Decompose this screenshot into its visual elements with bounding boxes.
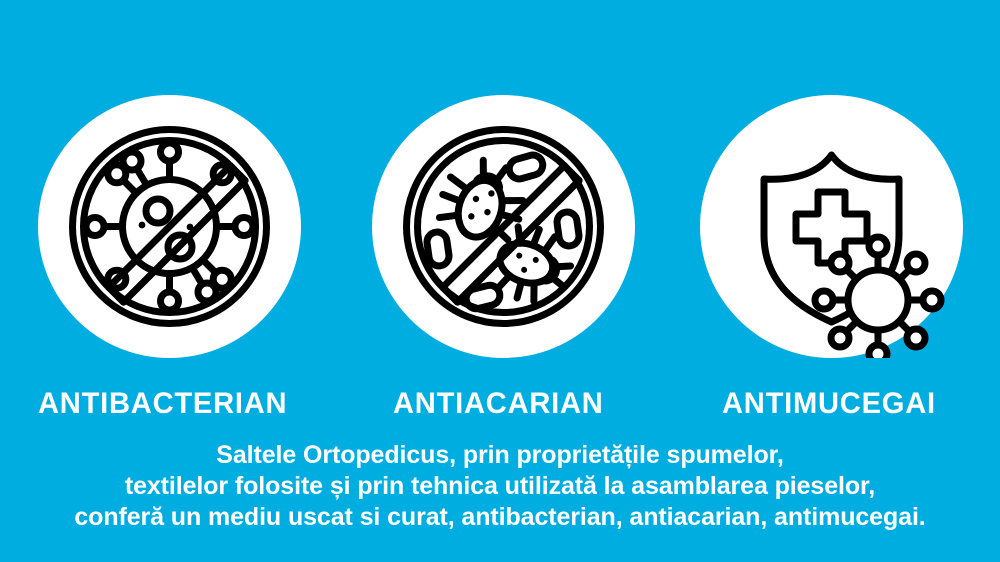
feature-label-antibacterian: ANTIBACTERIAN [38,385,287,423]
feature-badge-antibacterian [38,95,301,358]
feature-label-antiacarian: ANTIACARIAN [393,385,604,423]
blurb-line-2: textilelor folosite și prin tehnica util… [0,471,1000,502]
feature-badge-antimucegai [700,95,963,358]
shield-cross-germ-icon [700,95,963,358]
feature-label-antimucegai: ANTIMUCEGAI [722,385,936,423]
feature-labels-row: ANTIBACTERIAN ANTIACARIAN ANTIMUCEGAI [0,385,1000,429]
feature-badge-antiacarian [372,95,635,358]
promo-blurb: Saltele Ortopedicus, prin proprietățile … [0,440,1000,533]
blurb-line-1: Saltele Ortopedicus, prin proprietățile … [0,440,1000,471]
promo-banner: ANTIBACTERIAN ANTIACARIAN ANTIMUCEGAI Sa… [0,0,1000,562]
no-virus-icon [38,95,301,358]
germ-icon [815,237,941,358]
blurb-line-3: conferă un mediu uscat si curat, antibac… [0,502,1000,533]
no-dust-mite-icon [372,95,635,358]
feature-badges-row [0,0,1000,380]
